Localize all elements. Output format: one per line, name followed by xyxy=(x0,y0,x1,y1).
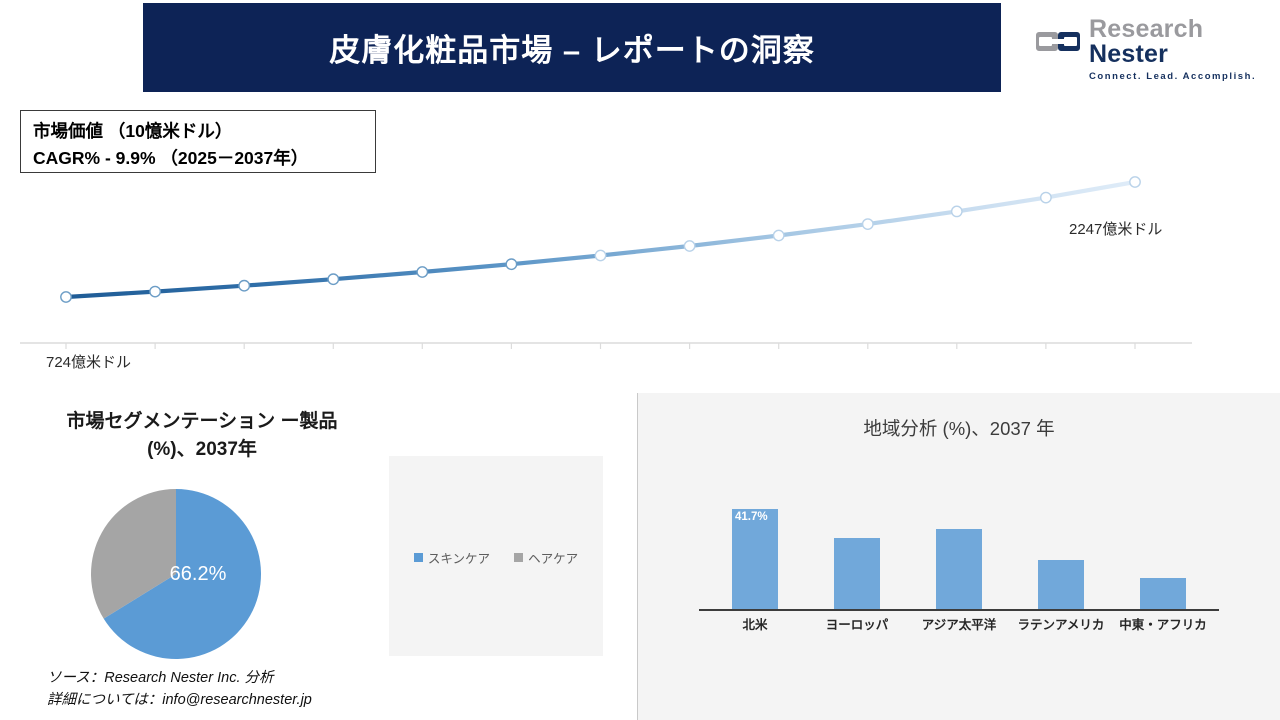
line-chart-point xyxy=(239,281,249,291)
bar-chart-baseline xyxy=(699,609,1219,611)
pie-chart-title: 市場セグメンテーション ー製品 (%)、2037年 xyxy=(22,408,382,463)
line-chart-ticks xyxy=(66,343,1135,349)
bar-chart-title: 地域分析 (%)、2037 年 xyxy=(638,415,1280,441)
regional-analysis-panel: 地域分析 (%)、2037 年 41.7% 北米ヨーロッパアジア太平洋ラテンアメ… xyxy=(638,393,1280,720)
line-chart-point xyxy=(1130,177,1140,187)
line-chart-point xyxy=(952,206,962,216)
line-chart-point xyxy=(506,259,516,269)
legend-item[interactable]: スキンケア xyxy=(414,548,490,567)
bar-value-label: 41.7% xyxy=(735,511,768,523)
source-line-1: ソース：Research Nester Inc. 分析 xyxy=(47,668,312,690)
line-chart-point xyxy=(1041,192,1051,202)
bar: 41.7% xyxy=(732,509,778,609)
legend-item[interactable]: ヘアケア xyxy=(514,548,578,567)
bar-chart-plot: 41.7% xyxy=(704,489,1214,609)
market-value-line-chart: 724億米ドル 2247億米ドル 2024年2025年2026年2027年202… xyxy=(0,100,1280,390)
start-value-label: 724億米ドル xyxy=(46,351,131,372)
bar-column xyxy=(1038,489,1084,609)
source-line-2: 詳細については：info@researchnester.jp xyxy=(47,690,312,712)
legend-swatch xyxy=(414,553,423,562)
page-title: 皮膚化粧品市場 – レポートの洞察 xyxy=(329,25,814,70)
bar-category-label: アジア太平洋 xyxy=(922,614,997,633)
header-banner: 皮膚化粧品市場 – レポートの洞察 xyxy=(143,3,1001,92)
product-segmentation-pie-chart: 66.2% xyxy=(90,488,262,660)
bar-column: 41.7% xyxy=(732,489,778,609)
line-chart-point xyxy=(595,250,605,260)
line-chart-point xyxy=(863,219,873,229)
bar-column xyxy=(834,489,880,609)
bar-category-label: ラテンアメリカ xyxy=(1018,614,1105,633)
legend-label: ヘアケア xyxy=(528,548,578,567)
source-note: ソース：Research Nester Inc. 分析 詳細については：info… xyxy=(47,668,312,712)
bar xyxy=(834,538,880,609)
bar-chart-category-labels: 北米ヨーロッパアジア太平洋ラテンアメリカ中東・アフリカ xyxy=(704,614,1214,636)
bar xyxy=(936,529,982,609)
line-chart-point xyxy=(328,274,338,284)
logo-word-research: Research xyxy=(1089,15,1203,43)
line-chart-point xyxy=(684,241,694,251)
line-chart-point xyxy=(150,286,160,296)
line-chart-svg xyxy=(0,100,1280,390)
pie-legend-panel: スキンケアヘアケア xyxy=(389,456,603,656)
bar-category-label: 北米 xyxy=(742,614,767,633)
interlocking-links-icon xyxy=(1036,28,1080,55)
pie-legend: スキンケアヘアケア xyxy=(389,548,603,567)
end-value-label: 2247億米ドル xyxy=(1069,218,1162,239)
brand-logo: Research Nester Connect. Lead. Accomplis… xyxy=(1036,22,1261,76)
bar-category-label: 中東・アフリカ xyxy=(1119,614,1207,633)
line-chart-markers xyxy=(61,177,1140,302)
bar-category-label: ヨーロッパ xyxy=(826,614,889,633)
logo-wordmark: Research Nester xyxy=(1089,17,1261,67)
pie-chart-svg: 66.2% xyxy=(90,488,262,660)
line-chart-point xyxy=(774,230,784,240)
pie-title-line-1: 市場セグメンテーション ー製品 xyxy=(22,408,382,436)
bar-column xyxy=(1140,489,1186,609)
line-chart-point xyxy=(417,267,427,277)
bar xyxy=(1038,560,1084,609)
bar-column xyxy=(936,489,982,609)
logo-word-nester: Nester xyxy=(1089,40,1168,68)
logo-row: Research Nester xyxy=(1036,17,1261,67)
logo-tagline: Connect. Lead. Accomplish. xyxy=(1089,71,1261,82)
line-chart-series xyxy=(66,182,1135,297)
pie-slice-value-label: 66.2% xyxy=(170,563,227,585)
bar xyxy=(1140,578,1186,609)
line-chart-point xyxy=(61,292,71,302)
legend-swatch xyxy=(514,553,523,562)
pie-title-line-2: (%)、2037年 xyxy=(22,436,382,464)
legend-label: スキンケア xyxy=(428,548,490,567)
